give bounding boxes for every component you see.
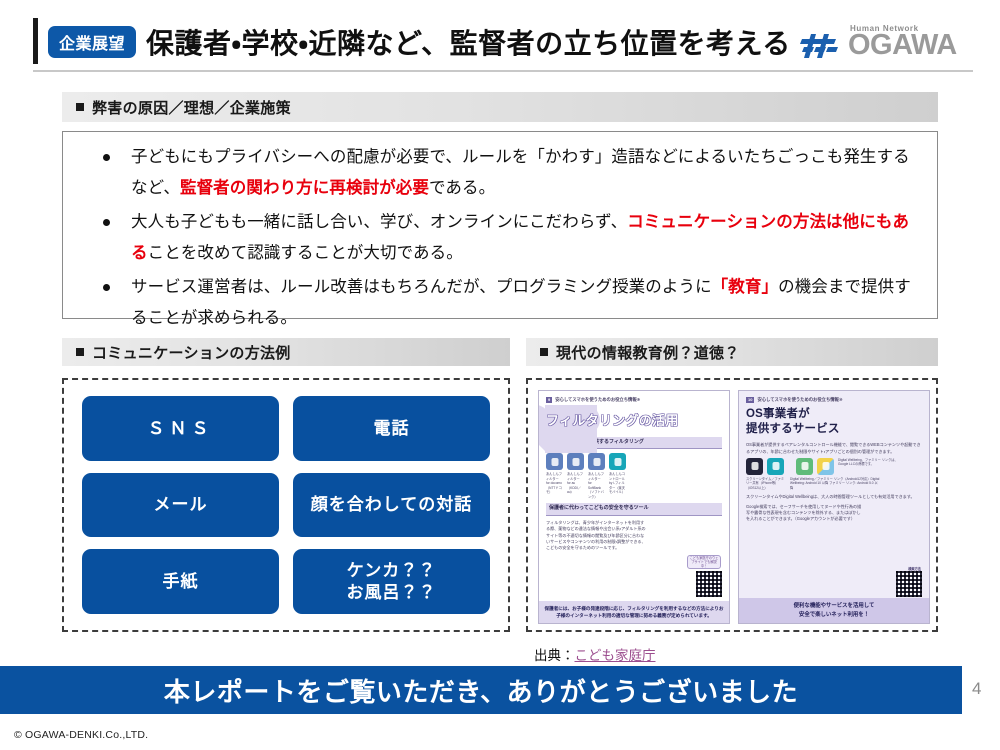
- brochure-kicker-row: 9 安心してスマホを使うためのお役立ち情報⑨: [546, 397, 722, 403]
- digital-wellbeing-icon: [796, 458, 813, 475]
- page-title: 保護者・学校・近隣など、監督者の立ち位置を考える: [146, 22, 791, 62]
- section-header-education-label: 現代の情報教育例？道徳？: [556, 342, 740, 363]
- copyright-notice: © OGAWA-DENKI.Co.,LTD.: [14, 729, 148, 741]
- carrier-caption: あんしんコントロール by i-フィルター（楽天モバイル）: [609, 472, 626, 499]
- section-header-main: 弊害の原因／理想／企業施策: [62, 92, 938, 122]
- bullet-text: 大人も子どもも一緒に話し合い、学び、オンラインにこだわらず、: [131, 213, 627, 231]
- communication-methods-panel: ＳＮＳ電話メール顔を合わしての対話手紙ケンカ？？ お風呂？？: [62, 378, 510, 632]
- key-points-box: 子どもにもプライバシーへの配慮が必要で、ルールを「かわす」造語などによるいたちご…: [62, 131, 938, 319]
- brochure-pair: 9 安心してスマホを使うためのお役立ち情報⑨ フィルタリングの活用 携帯電話事業…: [538, 390, 930, 624]
- section-header-communication-label: コミュニケーションの方法例: [92, 342, 291, 363]
- closing-banner-text: 本レポートをご覧いただき、ありがとうございました: [164, 672, 798, 709]
- brochure-kicker: 安心してスマホを使うためのお役立ち情報⑩: [757, 397, 842, 403]
- source-citation: 出典： こども家庭庁: [534, 644, 656, 664]
- header-divider: [33, 70, 973, 72]
- brochure-kicker-row: 10 安心してスマホを使うためのお役立ち情報⑩: [746, 397, 922, 403]
- brochure-band-2: 保護者に代わってこどもの安全を守るツール: [546, 503, 722, 516]
- os-icon-row: Digital Wellbeing、ファミリー リンクは、Google LLCの…: [746, 458, 922, 475]
- brochure-page-number: 10: [746, 397, 754, 403]
- docomo-filter-icon: [546, 453, 563, 470]
- ogawa-logo: Human Network OGAWA: [800, 24, 980, 64]
- communication-tile-grid: ＳＮＳ電話メール顔を合わしての対話手紙ケンカ？？ お風呂？？: [64, 380, 508, 630]
- brochure-footer: 便利な機能やサービスを活用して 安全で楽しいネット利用を！: [739, 598, 929, 623]
- screen-time-icon: [746, 458, 763, 475]
- os-caption-row: スクリーンタイム／ファミリー共有（iPhone等）（iOS12以上） Digit…: [746, 477, 922, 490]
- bullet-text: ことを改めて認識することが大切である。: [148, 244, 463, 262]
- os-caption: スクリーンタイム／ファミリー共有（iPhone等）（iOS12以上）: [746, 477, 786, 490]
- list-item: 子どもにもプライバシーへの配慮が必要で、ルールを「かわす」造語などによるいたちご…: [73, 142, 919, 204]
- brochure-page-filtering: 9 安心してスマホを使うためのお役立ち情報⑨ フィルタリングの活用 携帯電話事業…: [538, 390, 730, 624]
- carrier-caption: あんしんフィルター for docomo（NTTドコモ）: [546, 472, 563, 499]
- communication-tile[interactable]: 電話: [293, 396, 490, 461]
- emphasized-text: 監督者の関わり方に再検討が必要: [180, 179, 429, 197]
- softbank-filter-icon: [588, 453, 605, 470]
- square-bullet-icon: [540, 348, 548, 356]
- slide-page-number: 4: [972, 679, 981, 699]
- communication-tile[interactable]: 手紙: [82, 549, 279, 614]
- carrier-caption: あんしんフィルター for SoftBank（ソフトバンク）: [588, 472, 605, 499]
- logo-mark-icon: [800, 33, 842, 59]
- section-header-education: 現代の情報教育例？道徳？: [526, 338, 938, 366]
- square-bullet-icon: [76, 348, 84, 356]
- carrier-icon-row: [546, 453, 722, 470]
- brochure-body: フィルタリングは、青少年がインターネットを利用する際、薬物などの違法な情報や出会…: [546, 520, 648, 552]
- brochure-body-2: スクリーンタイムやDigital Wellbeingは、大人の時間管理ツールとし…: [746, 494, 922, 500]
- education-example-panel: 9 安心してスマホを使うためのお役立ち情報⑨ フィルタリングの活用 携帯電話事業…: [526, 378, 938, 632]
- brochure-title: フィルタリングの活用: [546, 411, 722, 431]
- trademark-note: Digital Wellbeing、ファミリー リンクは、Google LLCの…: [838, 458, 900, 475]
- section-header-main-label: 弊害の原因／理想／企業施策: [92, 97, 291, 118]
- brochure-body-3: Google検索では、セーフサーチを使用してヌードや性行為の描写や露骨な性表現を…: [746, 504, 862, 523]
- logo-wordmark: OGAWA: [848, 31, 957, 60]
- list-item: 大人も子どもも一緒に話し合い、学び、オンラインにこだわらず、コミュニケーションの…: [73, 207, 919, 269]
- communication-tile[interactable]: メール: [82, 473, 279, 538]
- source-prefix: 出典：: [534, 644, 575, 664]
- communication-tile[interactable]: ＳＮＳ: [82, 396, 279, 461]
- bullet-text: サービス運営者は、ルール改善はもちろんだが、プログラミング授業のように: [131, 278, 712, 296]
- key-points-list: 子どもにもプライバシーへの配慮が必要で、ルールを「かわす」造語などによるいたちご…: [73, 142, 919, 334]
- family-sharing-icon: [767, 458, 784, 475]
- source-link[interactable]: こども家庭庁: [575, 644, 656, 664]
- communication-tile[interactable]: ケンカ？？ お風呂？？: [293, 549, 490, 614]
- header-badge: 企業展望: [48, 26, 136, 58]
- qr-code-icon: [696, 571, 722, 597]
- emphasized-text: 「教育」: [712, 278, 778, 296]
- square-bullet-icon: [76, 103, 84, 111]
- brochure-title: OS事業者が 提供するサービス: [746, 407, 922, 436]
- brochure-kicker: 安心してスマホを使うためのお役立ち情報⑨: [555, 397, 640, 403]
- slide-header: 企業展望 保護者・学校・近隣など、監督者の立ち位置を考える Human Netw…: [0, 0, 1000, 78]
- header-accent-rule: [33, 18, 38, 64]
- section-header-communication: コミュニケーションの方法例: [62, 338, 510, 366]
- au-filter-icon: [567, 453, 584, 470]
- family-link-icon: [817, 458, 834, 475]
- list-item: サービス運営者は、ルール改善はもちろんだが、プログラミング授業のように「教育」の…: [73, 272, 919, 334]
- brochure-page-number: 9: [546, 397, 552, 403]
- os-caption: Digital Wellbeing／ファミリー リンク（Android12対応）…: [790, 477, 880, 490]
- qr-code-icon: [896, 571, 922, 597]
- communication-tile[interactable]: 顔を合わしての対話: [293, 473, 490, 538]
- ifilter-icon: [609, 453, 626, 470]
- carrier-caption-row: あんしんフィルター for docomo（NTTドコモ） あんしんフィルター f…: [546, 472, 722, 499]
- brochure-footer: 保護者には、お子様の発達段階に応じ、フィルタリングを利用するなどの方法によりお子…: [539, 601, 729, 623]
- brochure-callout-bubble: こども家庭庁のウェブサイトでも解説中！: [687, 555, 721, 569]
- carrier-caption: あんしんフィルター for au（KDDI／au）: [567, 472, 584, 499]
- brochure-body-1: OS事業者が提供するペアレンタルコントロール機能で、閲覧できるWEBコンテンツや…: [746, 442, 922, 455]
- brochure-page-os-services: 10 安心してスマホを使うためのお役立ち情報⑩ OS事業者が 提供するサービス …: [738, 390, 930, 624]
- bullet-text: である。: [429, 179, 495, 197]
- closing-banner: 本レポートをご覧いただき、ありがとうございました: [0, 666, 962, 714]
